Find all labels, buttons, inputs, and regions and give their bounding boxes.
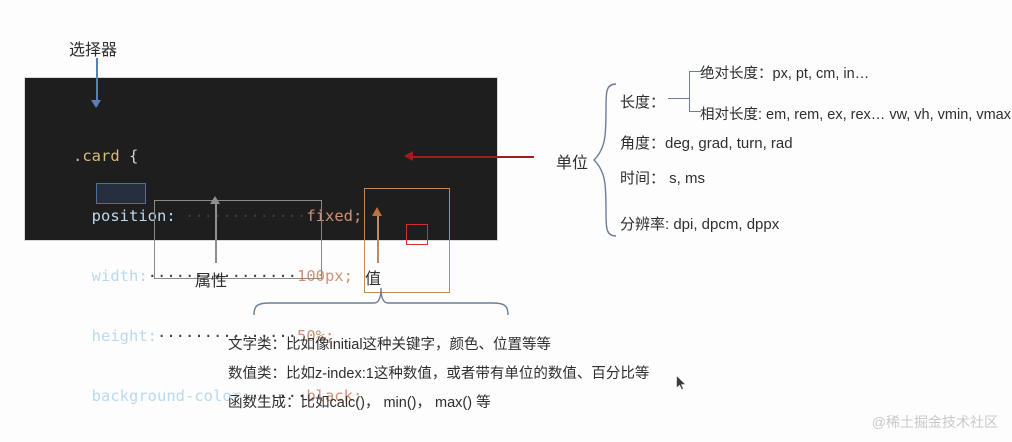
value-type-row: 文字类：比如像initial这种关键字，颜色、位置等等 (228, 331, 649, 360)
label-selector: 选择器 (69, 36, 117, 60)
value-leader-line (377, 215, 379, 263)
property-highlight-box (154, 200, 322, 279)
property-leader-line (215, 202, 217, 263)
selector-arrow-icon (91, 100, 101, 108)
code-line-selector: .card { (73, 146, 362, 166)
length-branch-stem (668, 98, 690, 99)
property-name-height: height: (92, 327, 157, 345)
units-brace-icon (592, 82, 618, 238)
mouse-cursor-icon (676, 375, 687, 391)
unit-leader-line (410, 156, 534, 158)
value-type-row: 数值类：比如z-index:1这种数值，或者带有单位的数值、百分比等 (228, 360, 649, 389)
units-time: 时间： s, ms (620, 167, 705, 188)
semicolon-position: ; (353, 207, 362, 225)
value-type-row: 函数生成：比如calc()， min()， max() 等 (228, 389, 649, 418)
value-types-list: 文字类：比如像initial这种关键字，颜色、位置等等 数值类：比如z-inde… (228, 331, 649, 418)
unit-arrow-icon (404, 151, 413, 161)
selector-leader-line (96, 58, 98, 106)
watermark: @稀土掘金技术社区 (872, 412, 998, 432)
value-arrow-icon (372, 207, 382, 216)
property-name-background-color: background-color: (92, 387, 251, 405)
property-name-width: width: (92, 267, 148, 285)
px-unit-highlight-box (406, 224, 428, 245)
property-arrow-icon (210, 196, 220, 204)
selector-highlight-box (96, 183, 146, 204)
semicolon-width: ; (344, 267, 353, 285)
units-angle: 角度：deg, grad, turn, rad (620, 132, 793, 153)
units-length-label: 长度： (620, 91, 665, 112)
units-relative-length: 相对长度: em, rem, ex, rex… vw, vh, vmin, vm… (700, 103, 1012, 124)
units-absolute-length: 绝对长度：px, pt, cm, in… (700, 62, 869, 83)
diagram-canvas: .card { position: ·············fixed; wi… (0, 0, 1012, 442)
label-property: 属性 (195, 267, 227, 291)
length-branch-spine (689, 71, 690, 112)
selector-token: .card (73, 147, 120, 165)
units-resolution: 分辨率: dpi, dpcm, dppx (620, 213, 779, 234)
label-unit: 单位 (556, 149, 588, 173)
open-brace-token (120, 147, 129, 165)
value-types-brace-icon (252, 285, 510, 317)
open-brace-glyph: { (129, 147, 138, 165)
